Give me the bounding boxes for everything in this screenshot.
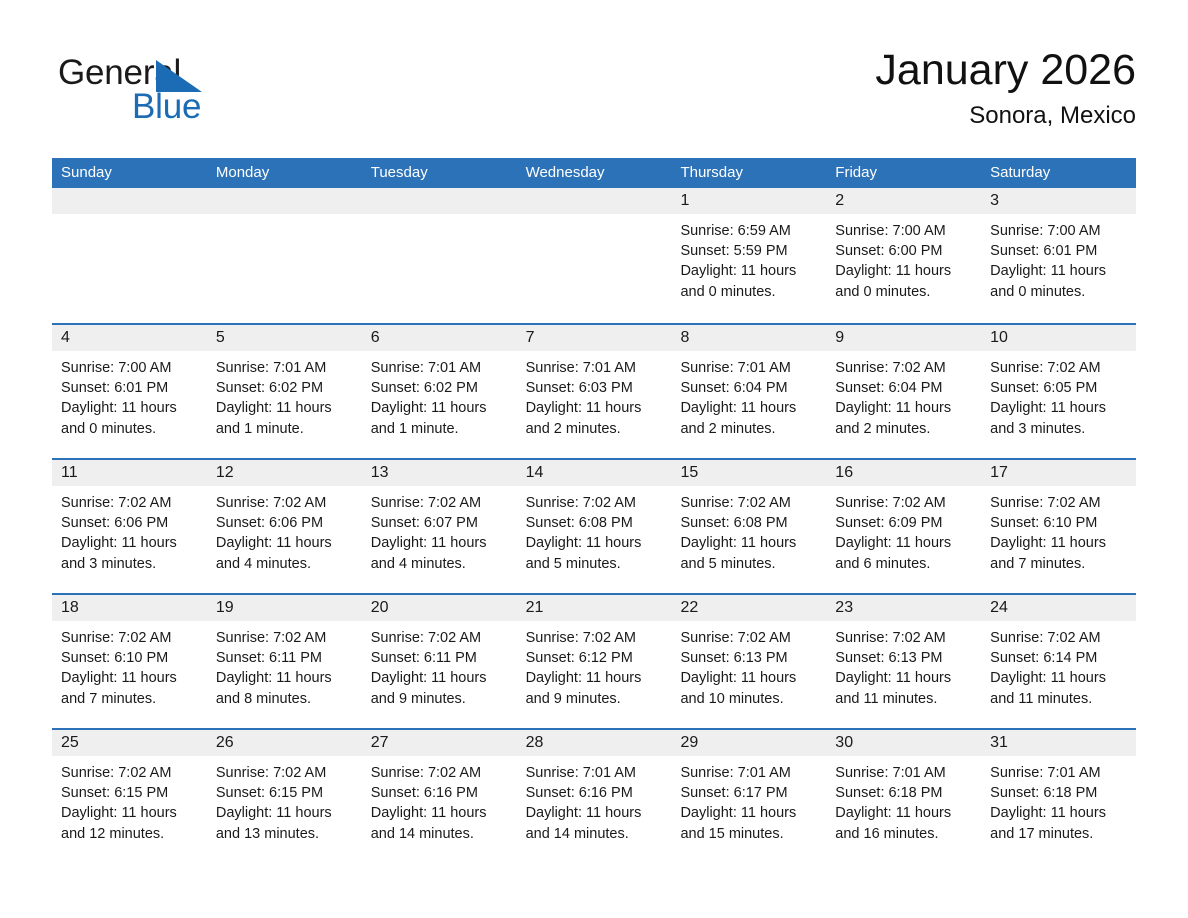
sunrise-text: Sunrise: 7:02 AM [216,493,353,513]
calendar-day-cell-empty[interactable] [517,188,672,323]
calendar-day-cell[interactable]: 2Sunrise: 7:00 AMSunset: 6:00 PMDaylight… [826,188,981,323]
sunrise-text: Sunrise: 7:02 AM [371,628,508,648]
calendar-day-cell[interactable]: 18Sunrise: 7:02 AMSunset: 6:10 PMDayligh… [52,595,207,728]
sunset-text: Sunset: 6:02 PM [371,378,508,398]
calendar-page: General Blue January 2026 Sonora, Mexico… [0,0,1188,918]
day-number: 15 [671,460,826,486]
daylight-text: Daylight: 11 hours and 5 minutes. [526,533,663,573]
calendar-day-cell[interactable]: 20Sunrise: 7:02 AMSunset: 6:11 PMDayligh… [362,595,517,728]
day-number: 1 [671,188,826,214]
day-details: Sunrise: 7:02 AMSunset: 6:06 PMDaylight:… [207,486,362,574]
calendar-day-cell[interactable]: 17Sunrise: 7:02 AMSunset: 6:10 PMDayligh… [981,460,1136,593]
daylight-text: Daylight: 11 hours and 11 minutes. [835,668,972,708]
day-details: Sunrise: 7:02 AMSunset: 6:08 PMDaylight:… [517,486,672,574]
sunrise-text: Sunrise: 7:02 AM [680,628,817,648]
weekday-header-wednesday: Wednesday [517,158,672,188]
day-details: Sunrise: 7:02 AMSunset: 6:12 PMDaylight:… [517,621,672,709]
day-details: Sunrise: 7:02 AMSunset: 6:11 PMDaylight:… [362,621,517,709]
calendar-day-cell[interactable]: 31Sunrise: 7:01 AMSunset: 6:18 PMDayligh… [981,730,1136,863]
day-number: 21 [517,595,672,621]
day-details: Sunrise: 7:02 AMSunset: 6:11 PMDaylight:… [207,621,362,709]
calendar-day-cell[interactable]: 6Sunrise: 7:01 AMSunset: 6:02 PMDaylight… [362,325,517,458]
sunset-text: Sunset: 6:02 PM [216,378,353,398]
day-number: 29 [671,730,826,756]
daylight-text: Daylight: 11 hours and 4 minutes. [216,533,353,573]
calendar-weeks: 1Sunrise: 6:59 AMSunset: 5:59 PMDaylight… [52,188,1136,863]
daylight-text: Daylight: 11 hours and 3 minutes. [61,533,198,573]
daylight-text: Daylight: 11 hours and 12 minutes. [61,803,198,843]
daylight-text: Daylight: 11 hours and 1 minute. [216,398,353,438]
day-number [517,188,672,214]
day-number: 10 [981,325,1136,351]
day-number: 14 [517,460,672,486]
day-number: 31 [981,730,1136,756]
calendar-day-cell[interactable]: 1Sunrise: 6:59 AMSunset: 5:59 PMDaylight… [671,188,826,323]
day-number [207,188,362,214]
daylight-text: Daylight: 11 hours and 16 minutes. [835,803,972,843]
daylight-text: Daylight: 11 hours and 9 minutes. [526,668,663,708]
page-subtitle-location: Sonora, Mexico [875,102,1136,130]
day-details: Sunrise: 7:00 AMSunset: 6:01 PMDaylight:… [52,351,207,439]
day-number: 20 [362,595,517,621]
sunrise-text: Sunrise: 7:02 AM [216,628,353,648]
daylight-text: Daylight: 11 hours and 11 minutes. [990,668,1127,708]
weekday-header-monday: Monday [207,158,362,188]
sunset-text: Sunset: 6:05 PM [990,378,1127,398]
day-number [362,188,517,214]
calendar-day-cell[interactable]: 9Sunrise: 7:02 AMSunset: 6:04 PMDaylight… [826,325,981,458]
day-details: Sunrise: 7:01 AMSunset: 6:04 PMDaylight:… [671,351,826,439]
day-number: 23 [826,595,981,621]
day-details: Sunrise: 7:02 AMSunset: 6:07 PMDaylight:… [362,486,517,574]
calendar-day-cell[interactable]: 15Sunrise: 7:02 AMSunset: 6:08 PMDayligh… [671,460,826,593]
calendar-grid: SundayMondayTuesdayWednesdayThursdayFrid… [52,158,1136,863]
sunset-text: Sunset: 5:59 PM [680,241,817,261]
calendar-day-cell[interactable]: 21Sunrise: 7:02 AMSunset: 6:12 PMDayligh… [517,595,672,728]
day-number: 8 [671,325,826,351]
calendar-weekday-header-row: SundayMondayTuesdayWednesdayThursdayFrid… [52,158,1136,188]
sunset-text: Sunset: 6:18 PM [990,783,1127,803]
logo-text-blue: Blue [132,88,201,126]
sunset-text: Sunset: 6:10 PM [990,513,1127,533]
calendar-day-cell[interactable]: 14Sunrise: 7:02 AMSunset: 6:08 PMDayligh… [517,460,672,593]
day-details: Sunrise: 7:02 AMSunset: 6:10 PMDaylight:… [52,621,207,709]
calendar-day-cell[interactable]: 26Sunrise: 7:02 AMSunset: 6:15 PMDayligh… [207,730,362,863]
day-details: Sunrise: 7:01 AMSunset: 6:18 PMDaylight:… [826,756,981,844]
daylight-text: Daylight: 11 hours and 2 minutes. [835,398,972,438]
day-details: Sunrise: 7:00 AMSunset: 6:00 PMDaylight:… [826,214,981,302]
daylight-text: Daylight: 11 hours and 0 minutes. [61,398,198,438]
sunrise-text: Sunrise: 7:00 AM [61,358,198,378]
sunrise-text: Sunrise: 7:01 AM [526,358,663,378]
calendar-week-row: 25Sunrise: 7:02 AMSunset: 6:15 PMDayligh… [52,728,1136,863]
calendar-day-cell[interactable]: 7Sunrise: 7:01 AMSunset: 6:03 PMDaylight… [517,325,672,458]
day-number: 3 [981,188,1136,214]
calendar-week-row: 4Sunrise: 7:00 AMSunset: 6:01 PMDaylight… [52,323,1136,458]
sunrise-text: Sunrise: 7:00 AM [835,221,972,241]
sunrise-text: Sunrise: 7:02 AM [990,358,1127,378]
sunrise-text: Sunrise: 7:01 AM [680,358,817,378]
sunset-text: Sunset: 6:08 PM [526,513,663,533]
day-number: 12 [207,460,362,486]
calendar-day-cell[interactable]: 11Sunrise: 7:02 AMSunset: 6:06 PMDayligh… [52,460,207,593]
day-number: 30 [826,730,981,756]
sunset-text: Sunset: 6:13 PM [835,648,972,668]
calendar-day-cell[interactable]: 25Sunrise: 7:02 AMSunset: 6:15 PMDayligh… [52,730,207,863]
day-number: 24 [981,595,1136,621]
sunset-text: Sunset: 6:12 PM [526,648,663,668]
general-blue-logo[interactable]: General Blue [58,54,318,134]
calendar-day-cell[interactable]: 13Sunrise: 7:02 AMSunset: 6:07 PMDayligh… [362,460,517,593]
calendar-week-row: 11Sunrise: 7:02 AMSunset: 6:06 PMDayligh… [52,458,1136,593]
calendar-day-cell[interactable]: 10Sunrise: 7:02 AMSunset: 6:05 PMDayligh… [981,325,1136,458]
sunset-text: Sunset: 6:06 PM [216,513,353,533]
sunrise-text: Sunrise: 7:02 AM [990,493,1127,513]
calendar-day-cell[interactable]: 3Sunrise: 7:00 AMSunset: 6:01 PMDaylight… [981,188,1136,323]
day-number: 26 [207,730,362,756]
day-number: 28 [517,730,672,756]
calendar-day-cell[interactable]: 12Sunrise: 7:02 AMSunset: 6:06 PMDayligh… [207,460,362,593]
day-details: Sunrise: 7:00 AMSunset: 6:01 PMDaylight:… [981,214,1136,302]
day-details: Sunrise: 7:02 AMSunset: 6:08 PMDaylight:… [671,486,826,574]
weekday-header-thursday: Thursday [671,158,826,188]
sunset-text: Sunset: 6:16 PM [371,783,508,803]
daylight-text: Daylight: 11 hours and 0 minutes. [680,261,817,301]
daylight-text: Daylight: 11 hours and 0 minutes. [990,261,1127,301]
calendar-day-cell[interactable]: 24Sunrise: 7:02 AMSunset: 6:14 PMDayligh… [981,595,1136,728]
sunrise-text: Sunrise: 6:59 AM [680,221,817,241]
sunset-text: Sunset: 6:15 PM [61,783,198,803]
weekday-header-friday: Friday [826,158,981,188]
day-details: Sunrise: 7:02 AMSunset: 6:05 PMDaylight:… [981,351,1136,439]
sunrise-text: Sunrise: 7:02 AM [526,493,663,513]
sunrise-text: Sunrise: 7:02 AM [61,628,198,648]
sunset-text: Sunset: 6:01 PM [61,378,198,398]
day-number: 11 [52,460,207,486]
daylight-text: Daylight: 11 hours and 9 minutes. [371,668,508,708]
sunrise-text: Sunrise: 7:02 AM [835,358,972,378]
sunrise-text: Sunrise: 7:01 AM [371,358,508,378]
daylight-text: Daylight: 11 hours and 4 minutes. [371,533,508,573]
sunset-text: Sunset: 6:01 PM [990,241,1127,261]
day-number: 5 [207,325,362,351]
day-number: 7 [517,325,672,351]
sunset-text: Sunset: 6:11 PM [216,648,353,668]
sunset-text: Sunset: 6:13 PM [680,648,817,668]
day-details: Sunrise: 7:02 AMSunset: 6:13 PMDaylight:… [671,621,826,709]
day-details: Sunrise: 7:02 AMSunset: 6:14 PMDaylight:… [981,621,1136,709]
sunrise-text: Sunrise: 7:02 AM [371,763,508,783]
sunset-text: Sunset: 6:06 PM [61,513,198,533]
day-details: Sunrise: 7:01 AMSunset: 6:02 PMDaylight:… [362,351,517,439]
sunset-text: Sunset: 6:09 PM [835,513,972,533]
day-details: Sunrise: 7:01 AMSunset: 6:03 PMDaylight:… [517,351,672,439]
daylight-text: Daylight: 11 hours and 5 minutes. [680,533,817,573]
daylight-text: Daylight: 11 hours and 6 minutes. [835,533,972,573]
day-number: 9 [826,325,981,351]
day-details: Sunrise: 7:02 AMSunset: 6:13 PMDaylight:… [826,621,981,709]
sunset-text: Sunset: 6:03 PM [526,378,663,398]
sunset-text: Sunset: 6:18 PM [835,783,972,803]
daylight-text: Daylight: 11 hours and 2 minutes. [526,398,663,438]
day-number: 27 [362,730,517,756]
calendar-day-cell[interactable]: 22Sunrise: 7:02 AMSunset: 6:13 PMDayligh… [671,595,826,728]
sunset-text: Sunset: 6:10 PM [61,648,198,668]
day-details: Sunrise: 7:02 AMSunset: 6:16 PMDaylight:… [362,756,517,844]
daylight-text: Daylight: 11 hours and 7 minutes. [990,533,1127,573]
page-title: January 2026 [875,44,1136,96]
daylight-text: Daylight: 11 hours and 17 minutes. [990,803,1127,843]
weekday-header-saturday: Saturday [981,158,1136,188]
daylight-text: Daylight: 11 hours and 2 minutes. [680,398,817,438]
daylight-text: Daylight: 11 hours and 1 minute. [371,398,508,438]
day-number: 13 [362,460,517,486]
sunrise-text: Sunrise: 7:01 AM [990,763,1127,783]
calendar-day-cell[interactable]: 27Sunrise: 7:02 AMSunset: 6:16 PMDayligh… [362,730,517,863]
sunrise-text: Sunrise: 7:02 AM [371,493,508,513]
day-number: 16 [826,460,981,486]
day-number: 6 [362,325,517,351]
sunset-text: Sunset: 6:14 PM [990,648,1127,668]
calendar-day-cell[interactable]: 16Sunrise: 7:02 AMSunset: 6:09 PMDayligh… [826,460,981,593]
calendar-day-cell-empty[interactable] [52,188,207,323]
daylight-text: Daylight: 11 hours and 10 minutes. [680,668,817,708]
sunrise-text: Sunrise: 7:02 AM [61,763,198,783]
calendar-day-cell-empty[interactable] [362,188,517,323]
page-header: General Blue January 2026 Sonora, Mexico [52,44,1136,148]
daylight-text: Daylight: 11 hours and 15 minutes. [680,803,817,843]
weekday-header-sunday: Sunday [52,158,207,188]
sunrise-text: Sunrise: 7:02 AM [216,763,353,783]
day-details: Sunrise: 7:01 AMSunset: 6:16 PMDaylight:… [517,756,672,844]
day-details: Sunrise: 7:01 AMSunset: 6:02 PMDaylight:… [207,351,362,439]
sunrise-text: Sunrise: 7:01 AM [526,763,663,783]
sunset-text: Sunset: 6:07 PM [371,513,508,533]
calendar-week-row: 18Sunrise: 7:02 AMSunset: 6:10 PMDayligh… [52,593,1136,728]
calendar-day-cell[interactable]: 4Sunrise: 7:00 AMSunset: 6:01 PMDaylight… [52,325,207,458]
day-details: Sunrise: 7:02 AMSunset: 6:15 PMDaylight:… [207,756,362,844]
sunrise-text: Sunrise: 7:02 AM [680,493,817,513]
day-details: Sunrise: 7:01 AMSunset: 6:17 PMDaylight:… [671,756,826,844]
day-number: 18 [52,595,207,621]
sunset-text: Sunset: 6:11 PM [371,648,508,668]
calendar-day-cell[interactable]: 5Sunrise: 7:01 AMSunset: 6:02 PMDaylight… [207,325,362,458]
sunrise-text: Sunrise: 7:02 AM [835,493,972,513]
day-number: 17 [981,460,1136,486]
calendar-day-cell[interactable]: 29Sunrise: 7:01 AMSunset: 6:17 PMDayligh… [671,730,826,863]
daylight-text: Daylight: 11 hours and 7 minutes. [61,668,198,708]
day-number [52,188,207,214]
daylight-text: Daylight: 11 hours and 3 minutes. [990,398,1127,438]
calendar-day-cell[interactable]: 8Sunrise: 7:01 AMSunset: 6:04 PMDaylight… [671,325,826,458]
calendar-week-row: 1Sunrise: 6:59 AMSunset: 5:59 PMDaylight… [52,188,1136,323]
daylight-text: Daylight: 11 hours and 0 minutes. [835,261,972,301]
day-details: Sunrise: 6:59 AMSunset: 5:59 PMDaylight:… [671,214,826,302]
day-details: Sunrise: 7:02 AMSunset: 6:06 PMDaylight:… [52,486,207,574]
sunset-text: Sunset: 6:04 PM [835,378,972,398]
day-number: 19 [207,595,362,621]
daylight-text: Daylight: 11 hours and 14 minutes. [526,803,663,843]
sunset-text: Sunset: 6:17 PM [680,783,817,803]
day-details: Sunrise: 7:02 AMSunset: 6:04 PMDaylight:… [826,351,981,439]
day-number: 2 [826,188,981,214]
sunrise-text: Sunrise: 7:02 AM [526,628,663,648]
sunset-text: Sunset: 6:08 PM [680,513,817,533]
day-details: Sunrise: 7:02 AMSunset: 6:09 PMDaylight:… [826,486,981,574]
sunrise-text: Sunrise: 7:01 AM [680,763,817,783]
weekday-header-tuesday: Tuesday [362,158,517,188]
sunrise-text: Sunrise: 7:02 AM [61,493,198,513]
sunrise-text: Sunrise: 7:01 AM [835,763,972,783]
calendar-day-cell[interactable]: 28Sunrise: 7:01 AMSunset: 6:16 PMDayligh… [517,730,672,863]
daylight-text: Daylight: 11 hours and 8 minutes. [216,668,353,708]
day-number: 4 [52,325,207,351]
day-details: Sunrise: 7:02 AMSunset: 6:15 PMDaylight:… [52,756,207,844]
calendar-day-cell[interactable]: 19Sunrise: 7:02 AMSunset: 6:11 PMDayligh… [207,595,362,728]
day-number: 22 [671,595,826,621]
sunset-text: Sunset: 6:15 PM [216,783,353,803]
daylight-text: Daylight: 11 hours and 14 minutes. [371,803,508,843]
sunrise-text: Sunrise: 7:02 AM [990,628,1127,648]
daylight-text: Daylight: 11 hours and 13 minutes. [216,803,353,843]
calendar-day-cell-empty[interactable] [207,188,362,323]
sunrise-text: Sunrise: 7:02 AM [835,628,972,648]
sunset-text: Sunset: 6:16 PM [526,783,663,803]
sunrise-text: Sunrise: 7:00 AM [990,221,1127,241]
calendar-day-cell[interactable]: 30Sunrise: 7:01 AMSunset: 6:18 PMDayligh… [826,730,981,863]
sunset-text: Sunset: 6:04 PM [680,378,817,398]
sunrise-text: Sunrise: 7:01 AM [216,358,353,378]
day-details: Sunrise: 7:02 AMSunset: 6:10 PMDaylight:… [981,486,1136,574]
day-number: 25 [52,730,207,756]
title-block: January 2026 Sonora, Mexico [875,44,1136,130]
sunset-text: Sunset: 6:00 PM [835,241,972,261]
day-details: Sunrise: 7:01 AMSunset: 6:18 PMDaylight:… [981,756,1136,844]
calendar-day-cell[interactable]: 23Sunrise: 7:02 AMSunset: 6:13 PMDayligh… [826,595,981,728]
